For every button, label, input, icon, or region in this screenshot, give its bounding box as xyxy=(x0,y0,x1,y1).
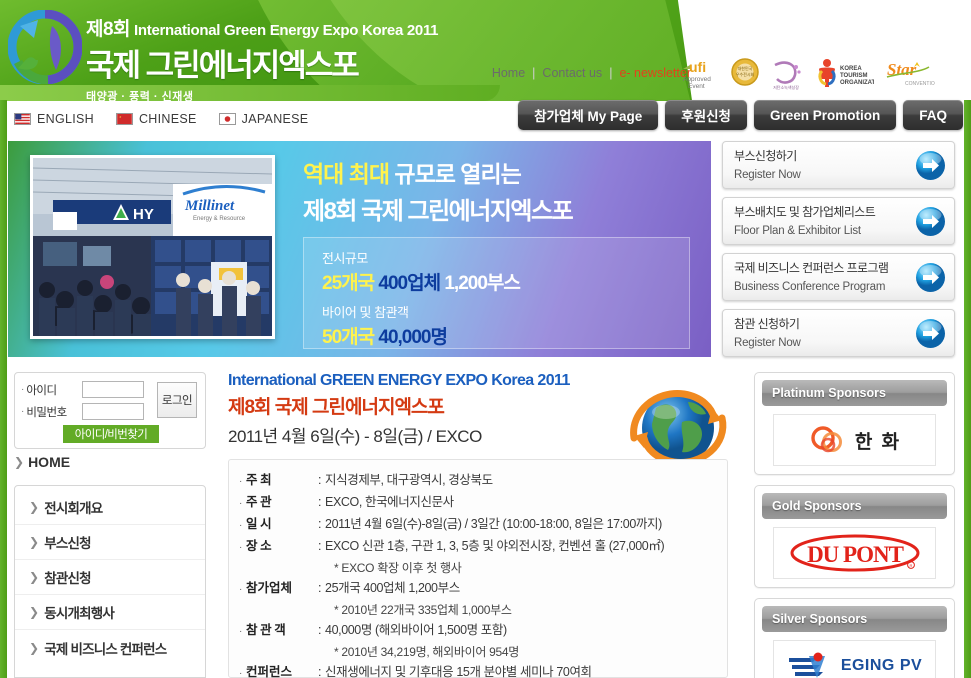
partner-logos: ufi Approved Event 대한민국 우수전시회 저탄소녹색성장 xyxy=(681,54,935,94)
site-logo[interactable]: 제8회 International Green Energy Expo Kore… xyxy=(8,6,358,96)
hanwha-mark-icon xyxy=(808,423,848,457)
us-flag-icon xyxy=(14,113,31,125)
language-english[interactable]: ENGLISH xyxy=(14,112,94,126)
jp-flag-icon xyxy=(219,113,236,125)
hero-booth-photo: HY Millinet Energy & Resource xyxy=(30,155,275,339)
quick-link-kr: 국제 비즈니스 컨퍼런스 프로그램 xyxy=(734,261,888,275)
chevron-right-icon: ❯ xyxy=(29,500,38,514)
login-id-input[interactable] xyxy=(82,381,144,398)
svg-text:우수전시회: 우수전시회 xyxy=(736,71,755,77)
info-row: · 참 관 객 : 40,000명 (해외바이어 1,500명 포함) xyxy=(239,620,727,642)
hanwha-logo[interactable]: 한 화 xyxy=(773,414,936,466)
info-key: 일 시 xyxy=(246,514,318,534)
logo-tagline: 태양광 · 풍력 · 신재생 xyxy=(86,88,438,104)
language-japanese[interactable]: JAPANESE xyxy=(219,112,309,126)
info-colon: : xyxy=(318,492,321,512)
bullet-icon: · xyxy=(21,384,24,395)
utility-link-home[interactable]: Home xyxy=(492,66,525,80)
quick-link-floor-plan[interactable]: 부스배치도 및 참가업체리스트 Floor Plan & Exhibitor L… xyxy=(722,197,955,245)
sidebar-item-home[interactable]: ❯ HOME xyxy=(14,454,70,470)
info-row: · 주 관 : EXCO, 한국에너지신문사 xyxy=(239,492,727,514)
bullet-icon: · xyxy=(21,406,24,417)
quick-link-text: 참관 신청하기 Register Now xyxy=(734,315,915,351)
sidebar-menu: ❯ 전시회개요 ❯ 부스신청 ❯ 참관신청 ❯ 동시개최행사 ❯ 국제 비즈니스… xyxy=(14,485,206,678)
bullet-icon: · xyxy=(239,472,242,492)
info-key: 주 최 xyxy=(246,470,318,490)
logo-text-block: 제8회 International Green Energy Expo Kore… xyxy=(86,14,438,104)
sponsor-tier-title: Platinum Sponsors xyxy=(762,380,947,406)
info-row: · 참가업체 : 25개국 400업체 1,200부스 xyxy=(239,578,727,600)
sidebar-item-business-conference[interactable]: ❯ 국제 비즈니스 컨퍼런스 xyxy=(15,630,205,665)
info-row: · 컨퍼런스 : 신재생에너지 및 기후대응 15개 분야별 세미나 70여회 xyxy=(239,662,727,678)
cn-flag-icon xyxy=(116,113,133,125)
info-colon: : xyxy=(318,578,321,598)
info-row: · 장 소 : EXCO 신관 1층, 구관 1, 3, 5층 및 야외전시장,… xyxy=(239,536,727,558)
language-selector: ENGLISH CHINESE JAPANESE xyxy=(14,112,308,126)
hero-subheadline: 제8회 국제 그린에너지엑스포 xyxy=(303,191,698,226)
arrow-right-icon xyxy=(915,206,946,237)
info-row: · 일 시 : 2011년 4월 6일(수)-8일(금) / 3일간 (10:0… xyxy=(239,514,727,536)
hero-banner[interactable]: HY Millinet Energy & Resource xyxy=(8,141,711,357)
bullet-icon: · xyxy=(239,580,242,600)
expo-info-box: · 주 최 : 지식경제부, 대구광역시, 경상북도 · 주 관 : EXCO,… xyxy=(228,459,728,678)
dupont-logo-text: DU PONT xyxy=(807,542,904,567)
sidebar-item-label: 전시회개요 xyxy=(44,497,102,517)
chevron-right-icon: ❯ xyxy=(29,570,38,584)
main-nav-buttons: 참가업체 My Page 후원신청 Green Promotion FAQ xyxy=(518,100,963,130)
svg-text:ORGANIZATION: ORGANIZATION xyxy=(840,80,874,86)
korea-tourism-organization-logo: KOREA TOURISM ORGANIZATION xyxy=(812,55,874,93)
korea-exhibition-certification-logo: 대한민국 우수전시회 xyxy=(730,55,760,93)
svg-text:Energy & Resource: Energy & Resource xyxy=(193,216,246,222)
svg-text:저탄소녹색성장: 저탄소녹색성장 xyxy=(773,84,799,90)
sidebar-item-label: 국제 비즈니스 컨퍼런스 xyxy=(44,638,166,658)
quick-link-en: Floor Plan & Exhibitor List xyxy=(734,225,861,237)
sidebar-item-concurrent-events[interactable]: ❯ 동시개최행사 xyxy=(15,595,205,630)
quick-link-kr: 부스신청하기 xyxy=(734,149,797,163)
eging-logo-text: EGING PV xyxy=(841,657,922,675)
info-subnote: * EXCO 확장 이후 첫 행사 xyxy=(239,558,727,578)
login-button[interactable]: 로그인 xyxy=(157,382,197,418)
quick-link-en: Register Now xyxy=(734,169,801,181)
bullet-icon: · xyxy=(239,516,242,536)
dupont-logo[interactable]: DU PONT R xyxy=(773,527,936,579)
info-value: 신재생에너지 및 기후대응 15개 분야별 세미나 70여회 xyxy=(325,662,592,678)
info-row: · 주 최 : 지식경제부, 대구광역시, 경상북도 xyxy=(239,470,727,492)
svg-text:CONVENTION: CONVENTION xyxy=(905,81,935,87)
quick-link-kr: 참관 신청하기 xyxy=(734,317,799,331)
info-key: 장 소 xyxy=(246,536,318,556)
hero-stat-1-part-2: 400업체 xyxy=(378,273,440,294)
info-colon: : xyxy=(318,470,321,490)
page-root: 제8회 International Green Energy Expo Kore… xyxy=(0,0,971,678)
info-value: 2011년 4월 6일(수)-8일(금) / 3일간 (10:00-18:00,… xyxy=(325,514,662,534)
hero-headline: 역대 최대 규모로 열리는 xyxy=(303,155,698,189)
nav-button-my-page[interactable]: 참가업체 My Page xyxy=(518,100,658,130)
info-colon: : xyxy=(318,514,321,534)
hero-text-block: 역대 최대 규모로 열리는 제8회 국제 그린에너지엑스포 전시규모 25개국 … xyxy=(303,155,698,349)
chevron-right-icon: ❯ xyxy=(29,641,38,655)
info-value: EXCO, 한국에너지신문사 xyxy=(325,492,454,512)
sponsor-tier-title: Silver Sponsors xyxy=(762,606,947,632)
eging-logo-inner: EGING PV xyxy=(787,650,922,678)
utility-separator: | xyxy=(532,66,535,80)
hero-stats-box: 전시규모 25개국 400업체 1,200부스 바이어 및 참관객 50개국 4… xyxy=(303,237,690,349)
arrow-right-icon xyxy=(915,150,946,181)
star-convention-logo: Star CONVENTION xyxy=(883,55,935,93)
info-value: 40,000명 (해외바이어 1,500명 포함) xyxy=(325,620,507,640)
logo-korean-title: 국제 그린에너지엑스포 xyxy=(86,40,438,85)
hero-stat-2-part-1: 50개국 xyxy=(322,327,374,348)
quick-link-en: Register Now xyxy=(734,337,801,349)
bullet-icon: · xyxy=(239,538,242,558)
green-energy-emblem-icon xyxy=(8,10,82,84)
language-chinese-label: CHINESE xyxy=(139,112,197,126)
hero-stat-2-part-2: 40,000명 xyxy=(378,327,447,348)
sidebar-item-booth-application[interactable]: ❯ 부스신청 xyxy=(15,525,205,560)
eging-mark-icon xyxy=(787,650,835,678)
sidebar-item-label: 부스신청 xyxy=(44,532,90,552)
quick-link-en: Business Conference Program xyxy=(734,281,885,293)
quick-link-visitor-register[interactable]: 참관 신청하기 Register Now xyxy=(722,309,955,357)
language-japanese-label: JAPANESE xyxy=(242,112,309,126)
info-key: 참가업체 xyxy=(246,578,318,598)
info-value: 25개국 400업체 1,200부스 xyxy=(325,578,460,598)
quick-link-conference-program[interactable]: 국제 비즈니스 컨퍼런스 프로그램 Business Conference Pr… xyxy=(722,253,955,301)
hanwha-logo-inner: 한 화 xyxy=(808,423,901,457)
hero-stat-label-1: 전시규모 xyxy=(322,248,689,267)
nav-button-faq[interactable]: FAQ xyxy=(903,100,963,130)
sidebar-item-visitor-application[interactable]: ❯ 참관신청 xyxy=(15,560,205,595)
quick-links-panel: 부스신청하기 Register Now 부스배치도 및 참가업체리스트 Floo… xyxy=(722,141,955,365)
sidebar-item-home-label: HOME xyxy=(28,454,70,470)
sidebar-item-overview[interactable]: ❯ 전시회개요 xyxy=(15,490,205,525)
chevron-right-icon: ❯ xyxy=(29,605,38,619)
nav-button-sponsorship[interactable]: 후원신청 xyxy=(665,100,747,130)
hero-stat-value-1: 25개국 400업체 1,200부스 xyxy=(322,268,689,295)
login-box: · 아이디 · 비밀번호 로그인 아이디/비번찾기 xyxy=(14,372,206,449)
svg-text:HY: HY xyxy=(133,206,154,223)
sponsor-tier-title: Gold Sponsors xyxy=(762,493,947,519)
arrow-right-icon xyxy=(915,262,946,293)
right-green-rail xyxy=(964,100,971,678)
info-colon: : xyxy=(318,620,321,640)
info-colon: : xyxy=(318,536,321,556)
hero-stat-1-part-1: 25개국 xyxy=(322,273,374,294)
info-subnote: * 2010년 22개국 335업체 1,000부스 xyxy=(239,600,727,620)
info-key: 주 관 xyxy=(246,492,318,512)
utility-links: Home | Contact us | e- newsletter xyxy=(492,66,691,80)
find-id-password-button[interactable]: 아이디/비번찾기 xyxy=(63,425,159,443)
info-value: 지식경제부, 대구광역시, 경상북도 xyxy=(325,470,493,490)
svg-text:Millinet: Millinet xyxy=(184,198,235,214)
chevron-right-icon: ❯ xyxy=(29,535,38,549)
left-green-rail xyxy=(0,100,7,678)
hero-stat-label-2: 바이어 및 참관객 xyxy=(322,302,689,321)
language-chinese[interactable]: CHINESE xyxy=(116,112,197,126)
utility-separator: | xyxy=(609,66,612,80)
sponsor-block-silver: Silver Sponsors EGING PV xyxy=(754,598,955,678)
logo-edition: 제8회 xyxy=(86,14,130,41)
login-id-label: 아이디 xyxy=(26,382,82,398)
dupont-mark-icon: DU PONT R xyxy=(780,531,930,575)
login-password-input[interactable] xyxy=(82,403,144,420)
bullet-icon: · xyxy=(239,664,242,678)
svg-text:R: R xyxy=(909,563,912,568)
ufi-approved-event-logo: ufi Approved Event xyxy=(681,55,721,93)
hanwha-logo-text: 한 화 xyxy=(855,427,901,454)
hero-stat-value-2: 50개국 40,000명 xyxy=(322,322,689,349)
sponsors-panel: Platinum Sponsors 한 화 Gold Sponsors DU P… xyxy=(754,372,955,678)
sidebar-item-label: 동시개최행사 xyxy=(44,602,114,622)
sponsor-block-platinum: Platinum Sponsors 한 화 xyxy=(754,372,955,475)
info-key: 컨퍼런스 xyxy=(246,662,318,678)
info-subnote: * 2010년 34,219명, 해외바이어 954명 xyxy=(239,642,727,662)
svg-text:KOREA: KOREA xyxy=(840,66,862,72)
svg-text:TOURISM: TOURISM xyxy=(840,73,868,79)
logo-english-title: International Green Energy Expo Korea 20… xyxy=(134,22,438,39)
svg-text:Approved: Approved xyxy=(683,76,711,83)
quick-link-booth-register[interactable]: 부스신청하기 Register Now xyxy=(722,141,955,189)
bullet-icon: · xyxy=(239,494,242,514)
main-title-block: International GREEN ENERGY EXPO Korea 20… xyxy=(228,372,738,447)
hero-headline-highlight: 역대 최대 xyxy=(303,161,389,187)
info-key: 참 관 객 xyxy=(246,620,318,640)
quick-link-text: 부스신청하기 Register Now xyxy=(734,147,915,183)
bullet-icon: · xyxy=(239,622,242,642)
info-colon: : xyxy=(318,662,321,678)
quick-link-text: 부스배치도 및 참가업체리스트 Floor Plan & Exhibitor L… xyxy=(734,203,915,239)
quick-link-text: 국제 비즈니스 컨퍼런스 프로그램 Business Conference Pr… xyxy=(734,259,915,295)
svg-text:ufi: ufi xyxy=(689,59,706,75)
eging-pv-logo[interactable]: EGING PV xyxy=(773,640,936,678)
language-english-label: ENGLISH xyxy=(37,112,94,126)
chevron-right-icon: ❯ xyxy=(14,455,24,469)
arrow-right-icon xyxy=(915,318,946,349)
svg-text:대한민국: 대한민국 xyxy=(738,65,753,71)
quick-link-kr: 부스배치도 및 참가업체리스트 xyxy=(734,205,875,219)
hero-headline-rest: 규모로 열리는 xyxy=(389,161,521,187)
hero-stat-1-part-3: 1,200부스 xyxy=(444,273,520,294)
sidebar-item-label: 참관신청 xyxy=(44,567,90,587)
green-growth-logo: 저탄소녹색성장 xyxy=(769,55,803,93)
utility-link-contact[interactable]: Contact us xyxy=(542,66,602,80)
info-value: EXCO 신관 1층, 구관 1, 3, 5층 및 야외전시장, 컨벤션 홀 (… xyxy=(325,536,664,556)
login-pw-label: 비밀번호 xyxy=(26,404,82,420)
sponsor-block-gold: Gold Sponsors DU PONT R xyxy=(754,485,955,588)
nav-button-green-promotion[interactable]: Green Promotion xyxy=(754,100,896,130)
svg-text:Event: Event xyxy=(688,83,705,90)
